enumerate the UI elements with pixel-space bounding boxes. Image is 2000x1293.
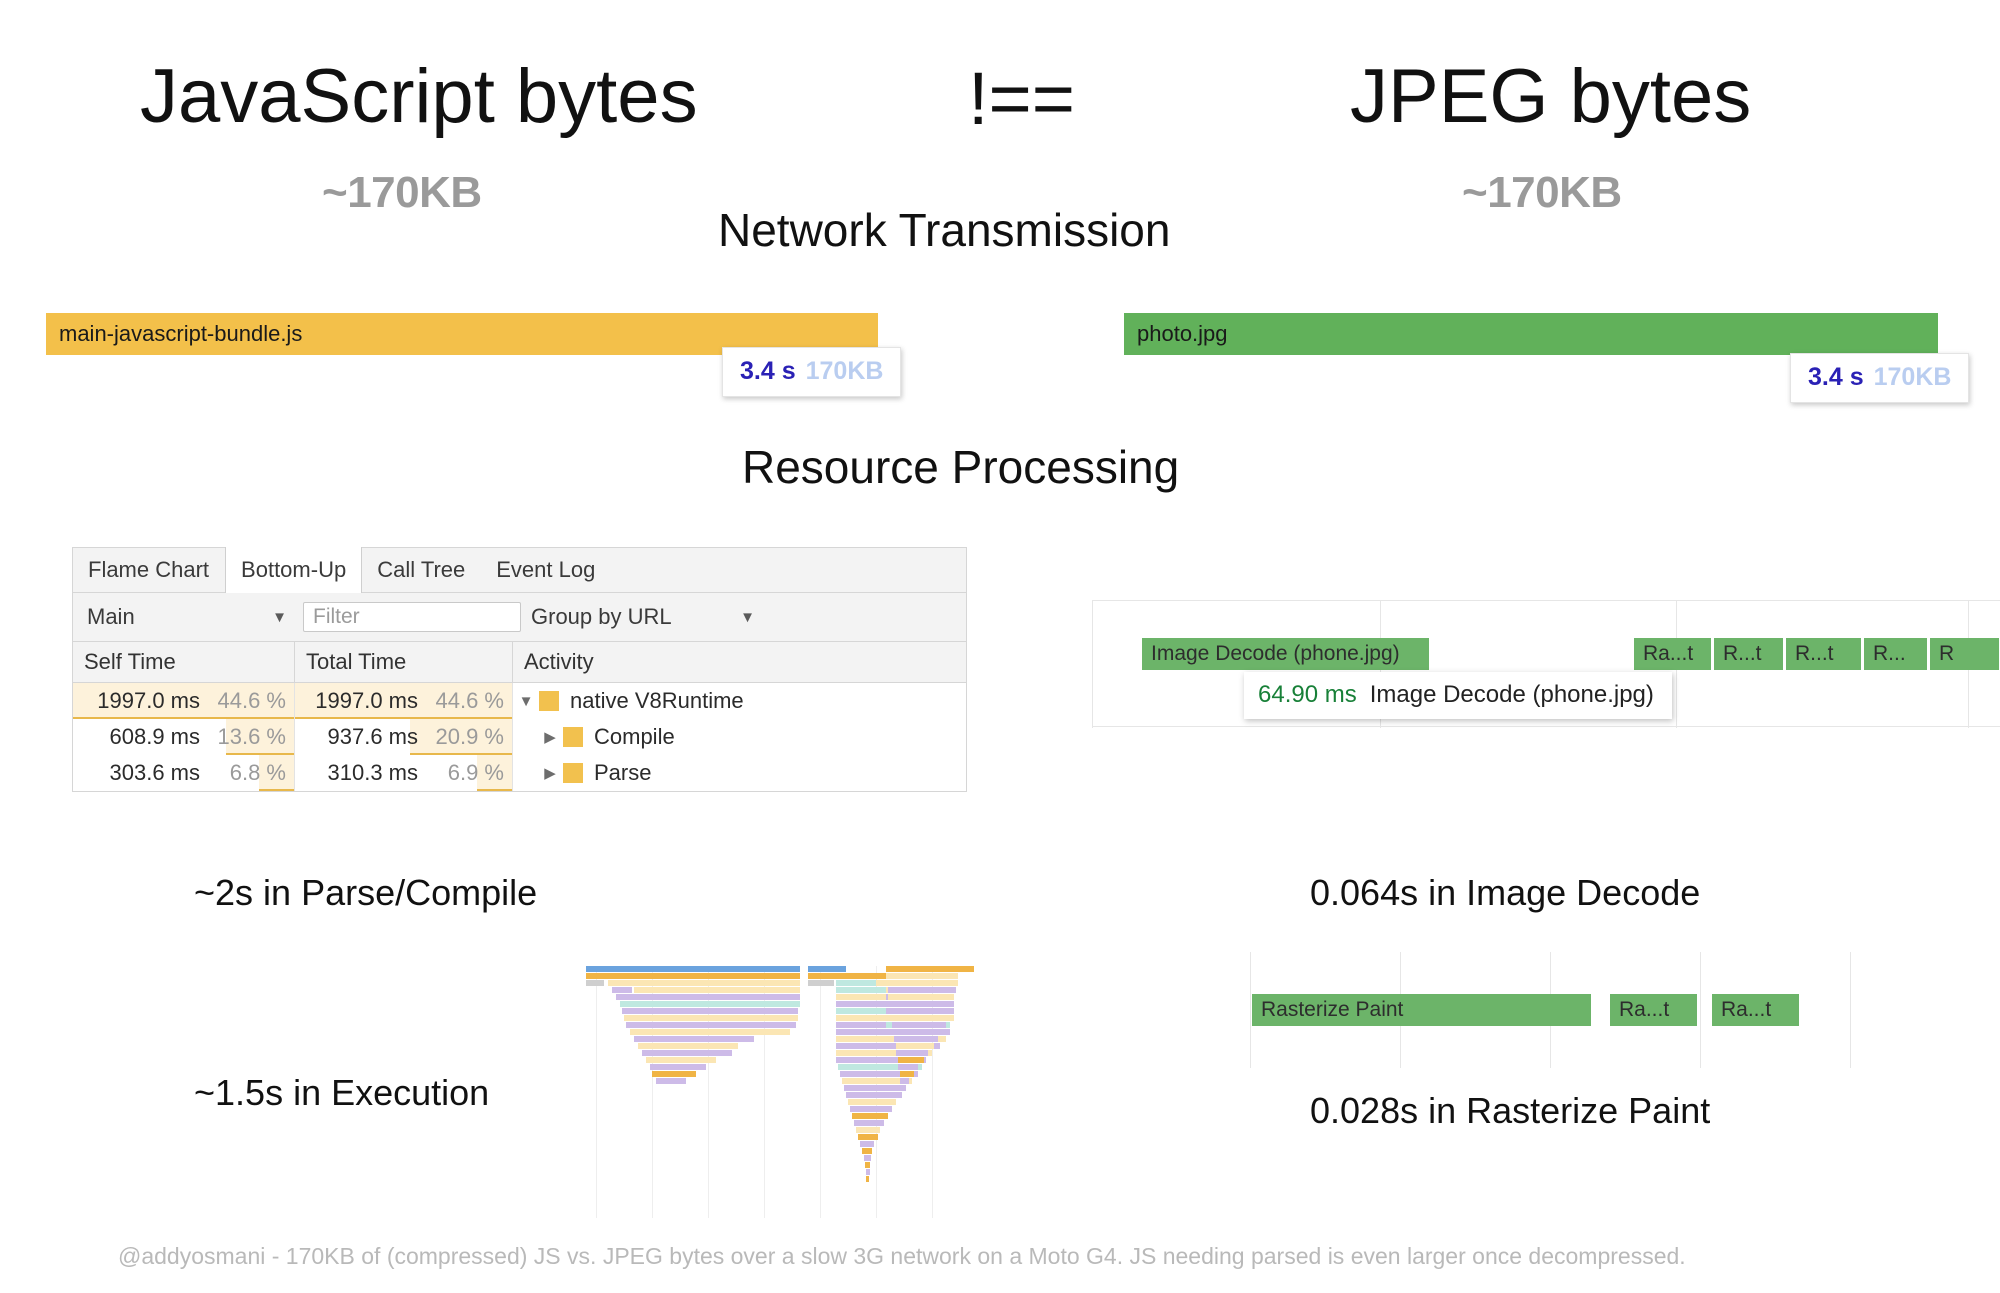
activity-color-swatch xyxy=(563,727,583,747)
tab-label: Event Log xyxy=(496,557,595,583)
tab-label: Flame Chart xyxy=(88,557,209,583)
headline-row: JavaScript bytes !== JPEG bytes xyxy=(0,30,2000,140)
activity-label: native V8Runtime xyxy=(570,688,744,714)
activity-color-swatch xyxy=(539,691,559,711)
network-tooltip-jpeg: 3.4 s 170KB xyxy=(1790,353,1969,403)
activity-cell: ▼ native V8Runtime xyxy=(513,683,966,719)
total-time-cell: 1997.0 ms 44.6 % xyxy=(295,683,513,719)
total-time-cell: 310.3 ms 6.9 % xyxy=(295,755,513,791)
headline-left: JavaScript bytes xyxy=(140,54,698,140)
table-row[interactable]: 608.9 ms 13.6 % 937.6 ms 20.9 % ▶ Compil… xyxy=(73,719,966,755)
timeline-event-rasterize[interactable]: R...t xyxy=(1714,638,1784,670)
timeline-event-rasterize[interactable]: R xyxy=(1930,638,2000,670)
self-time-cell: 608.9 ms 13.6 % xyxy=(73,719,295,755)
timeline-gridline-horizontal xyxy=(1092,600,2000,601)
timeline-image-decode: Image Decode (phone.jpg) Ra...t R...t R.… xyxy=(1092,600,2000,728)
timeline-event-label: R xyxy=(1939,642,1954,666)
tooltip-time-javascript: 3.4 s xyxy=(740,357,796,386)
self-time-percent: 13.6 % xyxy=(200,724,294,750)
timeline-event-rasterize[interactable]: R... xyxy=(1864,638,1928,670)
timeline-event-label: R... xyxy=(1873,642,1906,666)
activity-cell: ▶ Parse xyxy=(513,755,966,791)
network-bar-label-jpeg: photo.jpg xyxy=(1124,321,1228,347)
annotation-image-decode: 0.064s in Image Decode xyxy=(1310,872,1700,914)
timeline-event-rasterize-paint[interactable]: Rasterize Paint xyxy=(1252,994,1592,1026)
footer-attribution: @addyosmani - 170KB of (compressed) JS v… xyxy=(118,1243,1918,1270)
headline-operator: !== xyxy=(968,56,1075,142)
chevron-down-icon: ▼ xyxy=(272,610,287,625)
total-time-value: 1997.0 ms xyxy=(315,688,418,714)
total-time-percent: 6.9 % xyxy=(418,760,512,786)
annotation-rasterize-paint: 0.028s in Rasterize Paint xyxy=(1310,1090,1710,1132)
total-time-value: 310.3 ms xyxy=(328,760,419,786)
thread-select[interactable]: Main ▼ xyxy=(73,604,303,630)
tab-label: Bottom-Up xyxy=(241,557,346,583)
tooltip-size-jpeg: 170KB xyxy=(1874,363,1952,392)
tab-event-log[interactable]: Event Log xyxy=(481,548,611,592)
tab-label: Call Tree xyxy=(377,557,465,583)
timeline-event-label: R...t xyxy=(1795,642,1834,666)
column-header-total-time[interactable]: Total Time xyxy=(295,642,513,682)
group-by-select[interactable]: Group by URL ▼ xyxy=(521,604,771,630)
thread-select-value: Main xyxy=(87,604,135,630)
triangle-down-icon[interactable]: ▼ xyxy=(513,693,539,710)
tab-bottom-up[interactable]: Bottom-Up xyxy=(225,547,362,593)
self-time-cell: 1997.0 ms 44.6 % xyxy=(73,683,295,719)
timeline-event-rasterize[interactable]: R...t xyxy=(1786,638,1862,670)
total-time-percent: 44.6 % xyxy=(418,688,512,714)
size-label-jpeg: ~170KB xyxy=(1462,168,1622,218)
total-time-percent: 20.9 % xyxy=(418,724,512,750)
timeline-event-rasterize[interactable]: Ra...t xyxy=(1712,994,1800,1026)
self-time-percent: 44.6 % xyxy=(200,688,294,714)
self-time-value: 1997.0 ms xyxy=(97,688,200,714)
annotation-parse-compile: ~2s in Parse/Compile xyxy=(194,872,537,914)
total-time-cell: 937.6 ms 20.9 % xyxy=(295,719,513,755)
tooltip-size-javascript: 170KB xyxy=(806,357,884,386)
timeline-event-image-decode[interactable]: Image Decode (phone.jpg) xyxy=(1142,638,1430,670)
section-title-network: Network Transmission xyxy=(718,203,1170,257)
network-bar-jpeg: photo.jpg xyxy=(1124,313,1938,355)
annotation-execution: ~1.5s in Execution xyxy=(194,1072,489,1114)
slide-canvas: JavaScript bytes !== JPEG bytes ~170KB ~… xyxy=(0,0,2000,1293)
tooltip-duration: 64.90 ms xyxy=(1258,681,1357,709)
timeline-event-label: Rasterize Paint xyxy=(1261,998,1403,1022)
filter-placeholder: Filter xyxy=(313,605,360,629)
size-label-javascript: ~170KB xyxy=(322,168,482,218)
timeline-event-label: R...t xyxy=(1723,642,1762,666)
devtools-bottom-up-panel: Flame Chart Bottom-Up Call Tree Event Lo… xyxy=(72,547,967,792)
tooltip-event-name: Image Decode (phone.jpg) xyxy=(1370,681,1654,709)
filter-input[interactable]: Filter xyxy=(303,602,521,632)
self-time-value: 303.6 ms xyxy=(110,760,201,786)
activity-cell: ▶ Compile xyxy=(513,719,966,755)
timeline-event-label: Ra...t xyxy=(1643,642,1693,666)
timeline-rasterize-paint: Rasterize Paint Ra...t Ra...t xyxy=(1240,952,2000,1068)
section-title-processing: Resource Processing xyxy=(742,440,1179,494)
network-tooltip-javascript: 3.4 s 170KB xyxy=(722,347,901,397)
network-bar-label-javascript: main-javascript-bundle.js xyxy=(46,321,302,347)
headline-right: JPEG bytes xyxy=(1350,54,1751,140)
timeline-event-rasterize[interactable]: Ra...t xyxy=(1634,638,1712,670)
timeline-gridline-vertical xyxy=(1250,952,1251,1068)
timeline-event-rasterize[interactable]: Ra...t xyxy=(1610,994,1698,1026)
self-time-value: 608.9 ms xyxy=(110,724,201,750)
tooltip-time-jpeg: 3.4 s xyxy=(1808,363,1864,392)
devtools-toolbar: Main ▼ Filter Group by URL ▼ xyxy=(73,593,966,642)
timeline-gridline-horizontal xyxy=(1092,726,2000,727)
self-time-cell: 303.6 ms 6.8 % xyxy=(73,755,295,791)
activity-label: Compile xyxy=(594,724,675,750)
table-row[interactable]: 303.6 ms 6.8 % 310.3 ms 6.9 % ▶ Parse xyxy=(73,755,966,791)
devtools-tab-bar: Flame Chart Bottom-Up Call Tree Event Lo… xyxy=(73,548,966,593)
chevron-down-icon: ▼ xyxy=(740,610,755,625)
activity-label: Parse xyxy=(594,760,651,786)
timeline-gridline-vertical xyxy=(1850,952,1851,1068)
triangle-right-icon[interactable]: ▶ xyxy=(537,728,563,746)
triangle-right-icon[interactable]: ▶ xyxy=(537,764,563,782)
total-time-value: 937.6 ms xyxy=(328,724,419,750)
tab-call-tree[interactable]: Call Tree xyxy=(362,548,481,592)
timeline-tooltip-image-decode: 64.90 ms Image Decode (phone.jpg) xyxy=(1244,672,1672,719)
table-row[interactable]: 1997.0 ms 44.6 % 1997.0 ms 44.6 % ▼ nati… xyxy=(73,683,966,719)
group-by-select-value: Group by URL xyxy=(531,604,672,630)
tab-flame-chart[interactable]: Flame Chart xyxy=(73,548,225,592)
timeline-gridline-vertical xyxy=(1700,952,1701,1068)
column-header-activity[interactable]: Activity xyxy=(513,642,966,682)
flame-chart-thumbnail xyxy=(586,966,974,1218)
timeline-event-label: Ra...t xyxy=(1619,998,1669,1022)
column-header-self-time[interactable]: Self Time xyxy=(73,642,295,682)
table-header-row: Self Time Total Time Activity xyxy=(73,642,966,683)
self-time-percent: 6.8 % xyxy=(200,760,294,786)
timeline-event-label: Ra...t xyxy=(1721,998,1771,1022)
activity-color-swatch xyxy=(563,763,583,783)
timeline-event-label: Image Decode (phone.jpg) xyxy=(1151,642,1400,666)
timeline-gridline-vertical xyxy=(1092,600,1093,728)
